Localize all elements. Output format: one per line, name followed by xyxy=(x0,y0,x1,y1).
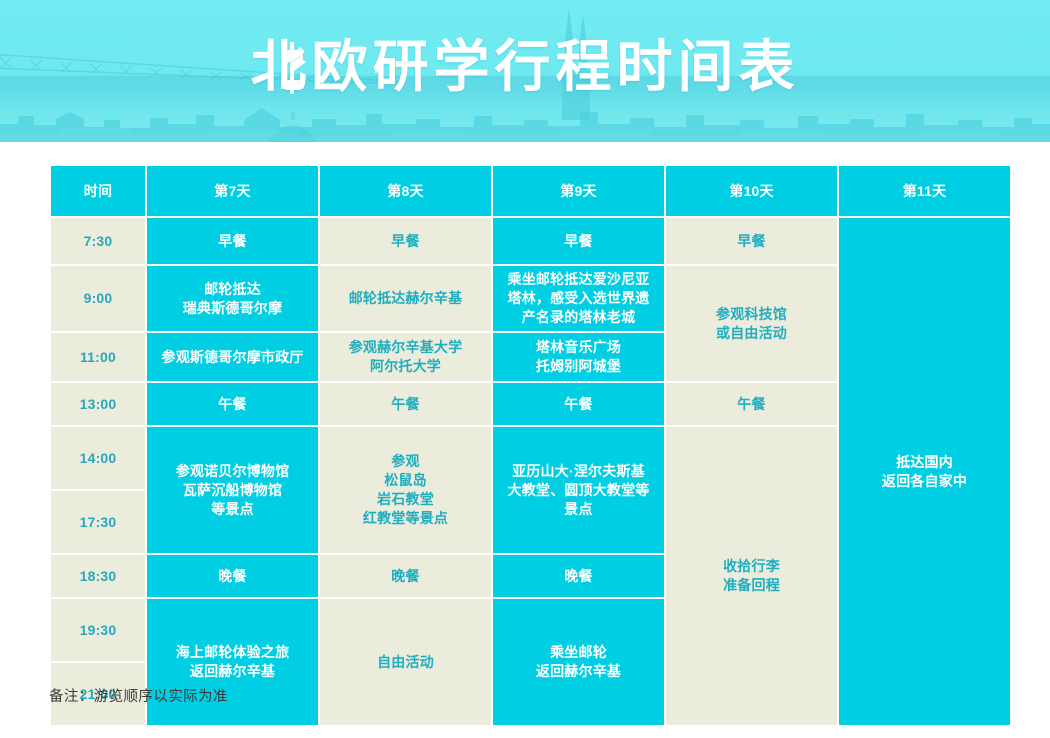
schedule-table: 时间 第7天 第8天 第9天 第10天 第11天 7:30 早餐 早餐 早餐 早… xyxy=(49,164,1012,727)
column-header-day7: 第7天 xyxy=(147,166,318,216)
cell-day7-1830: 晚餐 xyxy=(147,555,318,597)
cell-day8-0730: 早餐 xyxy=(320,218,491,264)
time-label-1400: 14:00 xyxy=(51,427,145,489)
column-header-day10: 第10天 xyxy=(666,166,837,216)
column-header-day8: 第8天 xyxy=(320,166,491,216)
cell-day9-1830: 晚餐 xyxy=(493,555,664,597)
cell-day8-1830: 晚餐 xyxy=(320,555,491,597)
cell-day10-1400: 收拾行李准备回程 xyxy=(666,427,837,725)
cell-day8-1400: 参观松鼠岛岩石教堂红教堂等景点 xyxy=(320,427,491,553)
column-header-time: 时间 xyxy=(51,166,145,216)
time-label-1830: 18:30 xyxy=(51,555,145,597)
time-label-1930: 19:30 xyxy=(51,599,145,661)
table-header-row: 时间 第7天 第8天 第9天 第10天 第11天 xyxy=(51,166,1010,216)
cell-day7-1400: 参观诺贝尔博物馆瓦萨沉船博物馆等景点 xyxy=(147,427,318,553)
header-banner: 北欧研学行程时间表 xyxy=(0,0,1050,142)
cell-day8-1930: 自由活动 xyxy=(320,599,491,725)
cell-day10-1300: 午餐 xyxy=(666,383,837,425)
column-header-day9: 第9天 xyxy=(493,166,664,216)
time-label-0900: 9:00 xyxy=(51,266,145,331)
itinerary-page: 北欧研学行程时间表 时间 第7天 第8天 第9天 第10天 第11天 7:30 xyxy=(0,0,1050,738)
cell-day9-1100: 塔林音乐广场托姆别阿城堡 xyxy=(493,333,664,381)
column-header-day11: 第11天 xyxy=(839,166,1010,216)
cell-day9-1400: 亚历山大·涅尔夫斯基大教堂、圆顶大教堂等景点 xyxy=(493,427,664,553)
cell-day7-1930: 海上邮轮体验之旅返回赫尔辛基 xyxy=(147,599,318,725)
cell-day7-0730: 早餐 xyxy=(147,218,318,264)
cell-day8-0900: 邮轮抵达赫尔辛基 xyxy=(320,266,491,331)
cell-day7-0900: 邮轮抵达瑞典斯德哥尔摩 xyxy=(147,266,318,331)
cell-day9-1300: 午餐 xyxy=(493,383,664,425)
page-title: 北欧研学行程时间表 xyxy=(0,0,1050,142)
time-label-1100: 11:00 xyxy=(51,333,145,381)
cell-day7-1100: 参观斯德哥尔摩市政厅 xyxy=(147,333,318,381)
cell-day9-0730: 早餐 xyxy=(493,218,664,264)
cell-day9-1930: 乘坐邮轮返回赫尔辛基 xyxy=(493,599,664,725)
time-label-1730: 17:30 xyxy=(51,491,145,553)
cell-day7-1300: 午餐 xyxy=(147,383,318,425)
cell-day10-0730: 早餐 xyxy=(666,218,837,264)
time-label-1300: 13:00 xyxy=(51,383,145,425)
cell-day8-1100: 参观赫尔辛基大学阿尔托大学 xyxy=(320,333,491,381)
time-label-0730: 7:30 xyxy=(51,218,145,264)
schedule-table-wrap: 时间 第7天 第8天 第9天 第10天 第11天 7:30 早餐 早餐 早餐 早… xyxy=(49,164,1001,727)
table-row: 7:30 早餐 早餐 早餐 早餐 抵达国内返回各自家中 xyxy=(51,218,1010,264)
cell-day9-0900: 乘坐邮轮抵达爱沙尼亚塔林，感受入选世界遗产名录的塔林老城 xyxy=(493,266,664,331)
cell-day11-all: 抵达国内返回各自家中 xyxy=(839,218,1010,725)
cell-day8-1300: 午餐 xyxy=(320,383,491,425)
footnote: 备注：游览顺序以实际为准 xyxy=(49,685,228,706)
cell-day10-0900: 参观科技馆或自由活动 xyxy=(666,266,837,381)
